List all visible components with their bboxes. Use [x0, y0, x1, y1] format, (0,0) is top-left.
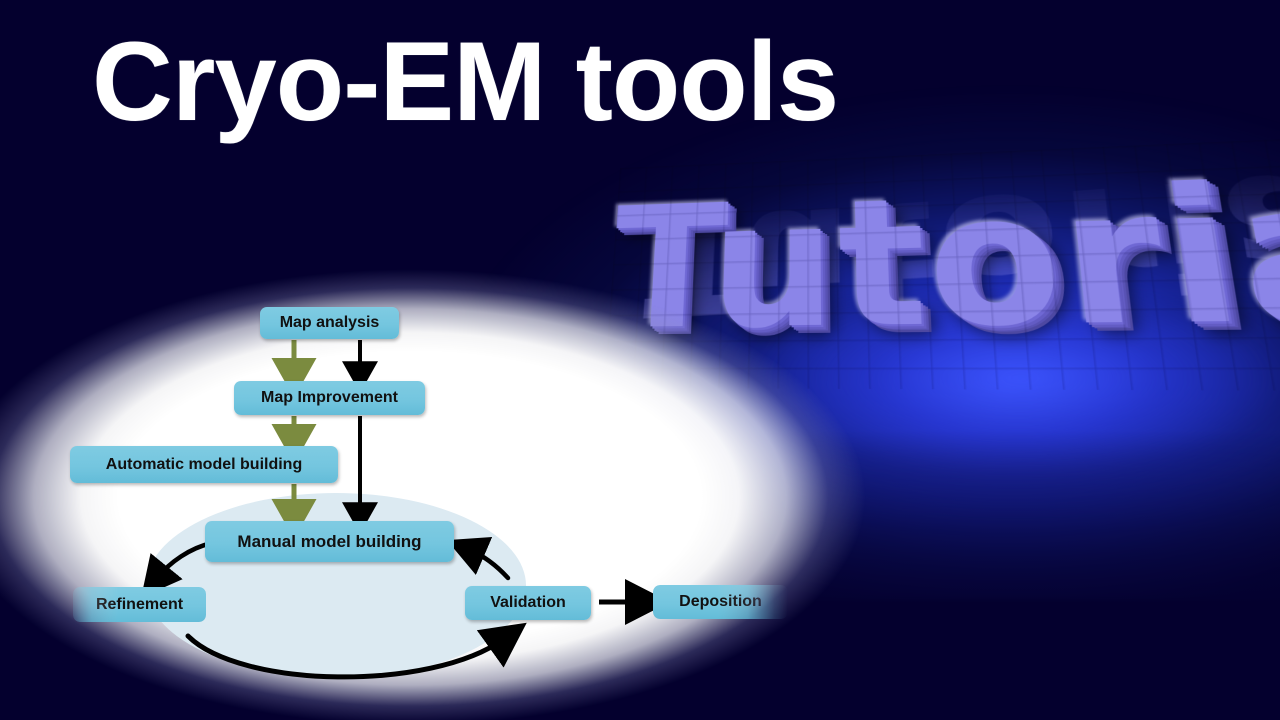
node-automatic-model-building[interactable]: Automatic model building — [70, 446, 338, 483]
slide-canvas: Tutorial Tutorial Cryo-EM tools — [0, 0, 1280, 720]
arrow-curve-manual-to-refinement — [157, 543, 212, 578]
arrow-curve-validation-to-manual — [470, 550, 508, 578]
arrow-curve-refinement-to-validation — [188, 636, 504, 677]
workflow-diagram: Map analysis Map Improvement Automatic m… — [0, 0, 1280, 720]
node-validation[interactable]: Validation — [465, 586, 591, 620]
node-map-improvement[interactable]: Map Improvement — [234, 381, 425, 415]
node-deposition[interactable]: Deposition — [653, 585, 788, 619]
node-manual-model-building[interactable]: Manual model building — [205, 521, 454, 562]
node-map-analysis[interactable]: Map analysis — [260, 307, 399, 339]
node-refinement[interactable]: Refinement — [73, 587, 206, 622]
